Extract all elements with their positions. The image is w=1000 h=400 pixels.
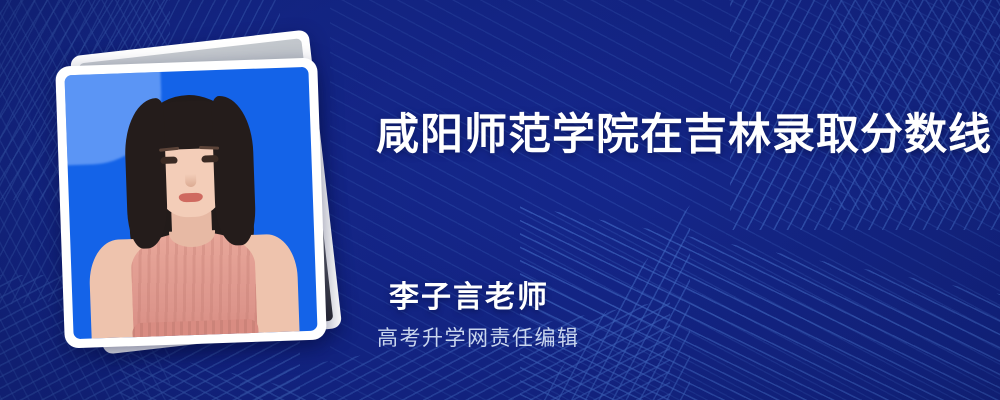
photo-card-stack	[60, 40, 350, 360]
author-name: 李子言老师	[389, 272, 549, 316]
portrait-figure	[64, 67, 317, 339]
hair-front-left-shape	[123, 98, 168, 249]
article-header-banner: 咸阳师范学院在吉林录取分数线 李子言老师 高考升学网责任编辑	[0, 0, 1000, 400]
left-eye-shape	[160, 156, 177, 164]
author-portrait-photo	[64, 67, 317, 339]
front-photo-card	[55, 58, 327, 349]
nose-shape	[185, 174, 196, 187]
right-eye-shape	[201, 155, 218, 163]
author-role: 高考升学网责任编辑	[377, 322, 580, 352]
right-eyebrow-shape	[199, 146, 219, 150]
hair-front-right-shape	[211, 95, 256, 246]
dress-waist-shape	[132, 319, 259, 339]
banner-title: 咸阳师范学院在吉林录取分数线	[376, 100, 992, 162]
